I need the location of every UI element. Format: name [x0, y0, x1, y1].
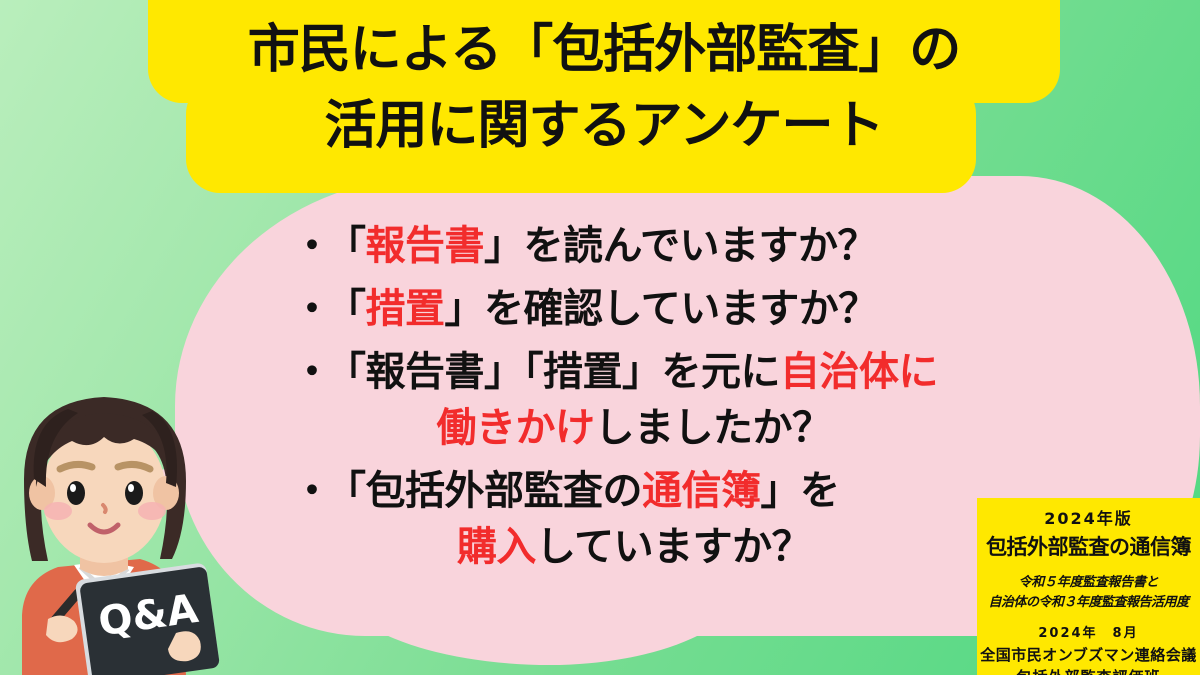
plain-term: 「	[326, 286, 366, 332]
credit-subtitle-line-1: 令和５年度監査報告書と	[977, 571, 1200, 590]
page-title-line-2: 活用に関するアンケート	[148, 88, 1060, 164]
credit-box: 2024年版 包括外部監査の通信簿 令和５年度監査報告書と 自治体の令和３年度監…	[977, 498, 1200, 675]
question-text: 「報告書」「措置」を元に自治体に働きかけしましたか？	[326, 344, 982, 456]
highlighted-term: 自治体に	[780, 349, 938, 395]
plain-term: しましたか？	[595, 405, 832, 451]
question-line: 「報告書」を読んでいますか？	[326, 218, 982, 274]
credit-date: 2024年 8月	[977, 622, 1200, 641]
credit-team: 包括外部監査評価班	[977, 666, 1200, 675]
question-bullet-icon: ・	[292, 218, 326, 274]
question-text: 「報告書」を読んでいますか？	[326, 218, 982, 274]
question-bullet-icon: ・	[292, 463, 326, 519]
page-title: 市民による「包括外部監査」の 活用に関するアンケート	[148, 12, 1060, 164]
question-line: 「包括外部監査の通信簿」を	[326, 463, 982, 519]
highlighted-term: 措置	[366, 286, 445, 332]
slide-canvas: 市民による「包括外部監査」の 活用に関するアンケート ・「報告書」を読んでいます…	[0, 0, 1200, 675]
highlighted-term: 購入	[457, 524, 536, 570]
plain-term: 「	[326, 223, 366, 269]
woman-with-tablet-illustration: Q&A	[0, 383, 240, 675]
question-item: ・「報告書」を読んでいますか？	[292, 218, 982, 274]
credit-year-edition: 2024年版	[977, 505, 1200, 529]
highlighted-term: 報告書	[366, 223, 485, 269]
plain-term: 「包括外部監査の	[326, 468, 642, 514]
plain-term: 」を読んでいますか？	[484, 223, 877, 269]
plain-term: 」を	[761, 468, 840, 514]
question-item: ・「措置」を確認していますか？	[292, 281, 982, 337]
question-text: 「措置」を確認していますか？	[326, 281, 982, 337]
plain-term: 「報告書」「措置」を元に	[326, 349, 780, 395]
question-line: 「報告書」「措置」を元に自治体に	[326, 344, 982, 400]
question-line: 働きかけしましたか？	[326, 400, 982, 456]
highlighted-term: 通信簿	[642, 468, 761, 514]
question-line: 購入していますか？	[326, 519, 982, 575]
plain-term: していますか？	[536, 524, 811, 570]
plain-term: 」を確認していますか？	[445, 286, 878, 332]
question-text: 「包括外部監査の通信簿」を購入していますか？	[326, 463, 982, 575]
highlighted-term: 働きかけ	[437, 405, 595, 451]
credit-title: 包括外部監査の通信簿	[977, 531, 1200, 561]
credit-subtitle-line-2: 自治体の令和３年度監査報告活用度	[977, 591, 1200, 610]
question-item: ・「報告書」「措置」を元に自治体に働きかけしましたか？	[292, 344, 982, 456]
question-bullet-icon: ・	[292, 281, 326, 337]
credit-organization: 全国市民オンブズマン連絡会議	[977, 644, 1200, 665]
question-item: ・「包括外部監査の通信簿」を購入していますか？	[292, 463, 982, 575]
page-title-line-1: 市民による「包括外部監査」の	[148, 12, 1060, 88]
question-list: ・「報告書」を読んでいますか？・「措置」を確認していますか？・「報告書」「措置」…	[292, 218, 982, 582]
question-line: 「措置」を確認していますか？	[326, 281, 982, 337]
question-bullet-icon: ・	[292, 344, 326, 400]
